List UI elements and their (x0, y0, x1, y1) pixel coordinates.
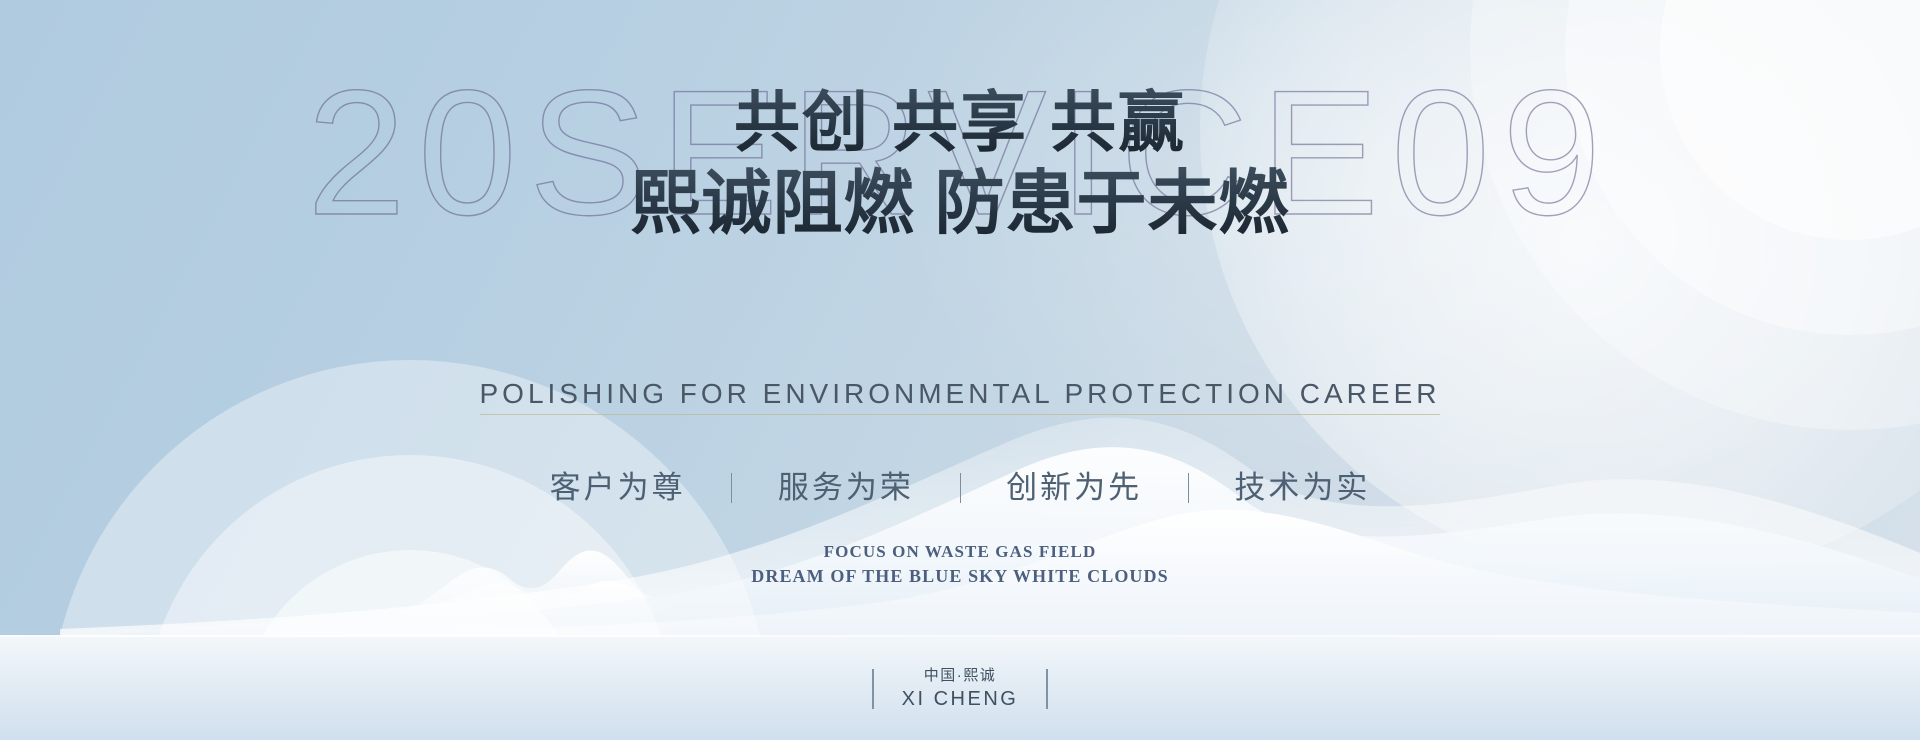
english-tagline-block: POLISHING FOR ENVIRONMENTAL PROTECTION C… (0, 378, 1920, 415)
headline-word-1: 共创 (734, 87, 870, 160)
value-item-3: 创新为先 (1006, 462, 1142, 507)
value-separator (1188, 473, 1189, 503)
serif-line-1: FOCUS ON WASTE GAS FIELD (0, 540, 1920, 564)
value-item-1: 客户为尊 (550, 462, 686, 507)
serif-line-2: DREAM OF THE BLUE SKY WHITE CLOUDS (0, 564, 1920, 589)
logo-text-wrap: 中国·熙诚 XI CHENG (902, 665, 1019, 712)
value-item-4: 技术为实 (1234, 462, 1370, 507)
value-separator (731, 473, 732, 503)
value-item-2: 服务为荣 (778, 462, 914, 507)
logo-bar-right (1046, 669, 1048, 709)
logo-chinese: 中国·熙诚 (902, 665, 1019, 687)
values-row: 客户为尊 服务为荣 创新为先 技术为实 (0, 462, 1920, 507)
mountain-range-shape (0, 377, 1920, 637)
value-separator (960, 473, 961, 503)
headline-word-3: 共赢 (1050, 87, 1186, 160)
headline-block: 共创共享共赢 熙诚阻燃防患于未燃 (0, 84, 1920, 246)
logo-bar-left (872, 669, 874, 709)
headline-phrase-2: 防患于未燃 (935, 166, 1290, 243)
headline-phrase-1: 熙诚阻燃 (631, 166, 915, 243)
english-tagline: POLISHING FOR ENVIRONMENTAL PROTECTION C… (480, 378, 1441, 415)
serif-english-block: FOCUS ON WASTE GAS FIELD DREAM OF THE BL… (0, 540, 1920, 589)
brand-logo: 中国·熙诚 XI CHENG (0, 665, 1920, 712)
hero-banner: 20SERVICE09 共创共享共赢 熙诚阻燃防患于未燃 (0, 0, 1920, 740)
headline-line-1: 共创共享共赢 (0, 84, 1920, 164)
logo-english: XI CHENG (902, 687, 1019, 712)
headline-word-2: 共享 (892, 87, 1028, 160)
headline-line-2: 熙诚阻燃防患于未燃 (0, 164, 1920, 246)
